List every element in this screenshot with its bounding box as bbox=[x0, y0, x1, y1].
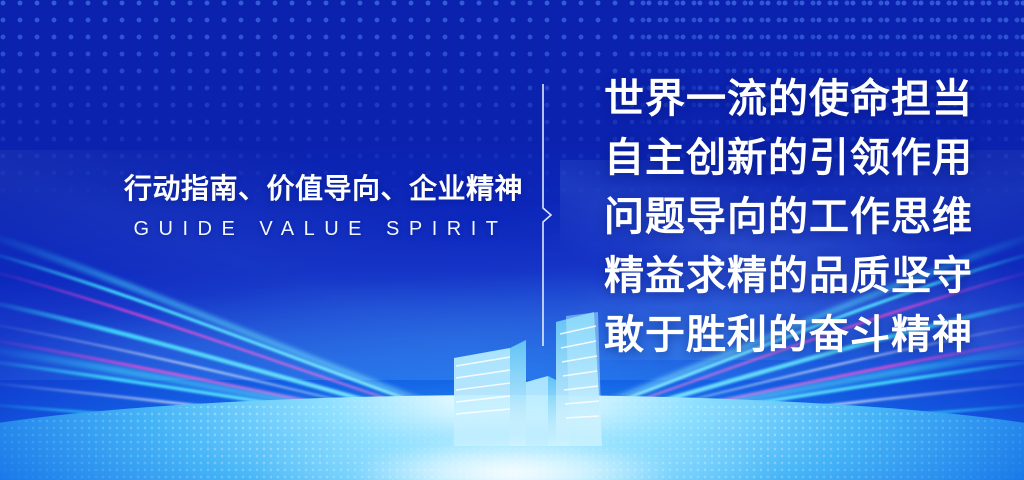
slogan-line-1: 世界一流的使命担当 bbox=[604, 70, 1004, 129]
right-text-block: 世界一流的使命担当 自主创新的引领作用 问题导向的工作思维 精益求精的品质坚守 … bbox=[604, 70, 1004, 365]
ground-dot-grid bbox=[0, 398, 1024, 480]
corporate-culture-banner: 行动指南、价值导向、企业精神 GUIDE VALUE SPIRIT 世界一流的使… bbox=[0, 0, 1024, 480]
slogan-line-4: 精益求精的品质坚守 bbox=[604, 247, 1004, 306]
left-text-block: 行动指南、价值导向、企业精神 GUIDE VALUE SPIRIT bbox=[124, 172, 488, 241]
left-title: 行动指南、价值导向、企业精神 bbox=[124, 172, 488, 206]
vertical-divider bbox=[528, 84, 558, 346]
slogan-line-3: 问题导向的工作思维 bbox=[604, 188, 1004, 247]
slogan-line-2: 自主创新的引领作用 bbox=[604, 129, 1004, 188]
left-subtitle: GUIDE VALUE SPIRIT bbox=[124, 218, 488, 241]
horizon-glow bbox=[0, 395, 1024, 480]
building-base-glow bbox=[252, 418, 772, 480]
slogan-line-5: 敢于胜利的奋斗精神 bbox=[604, 306, 1004, 365]
